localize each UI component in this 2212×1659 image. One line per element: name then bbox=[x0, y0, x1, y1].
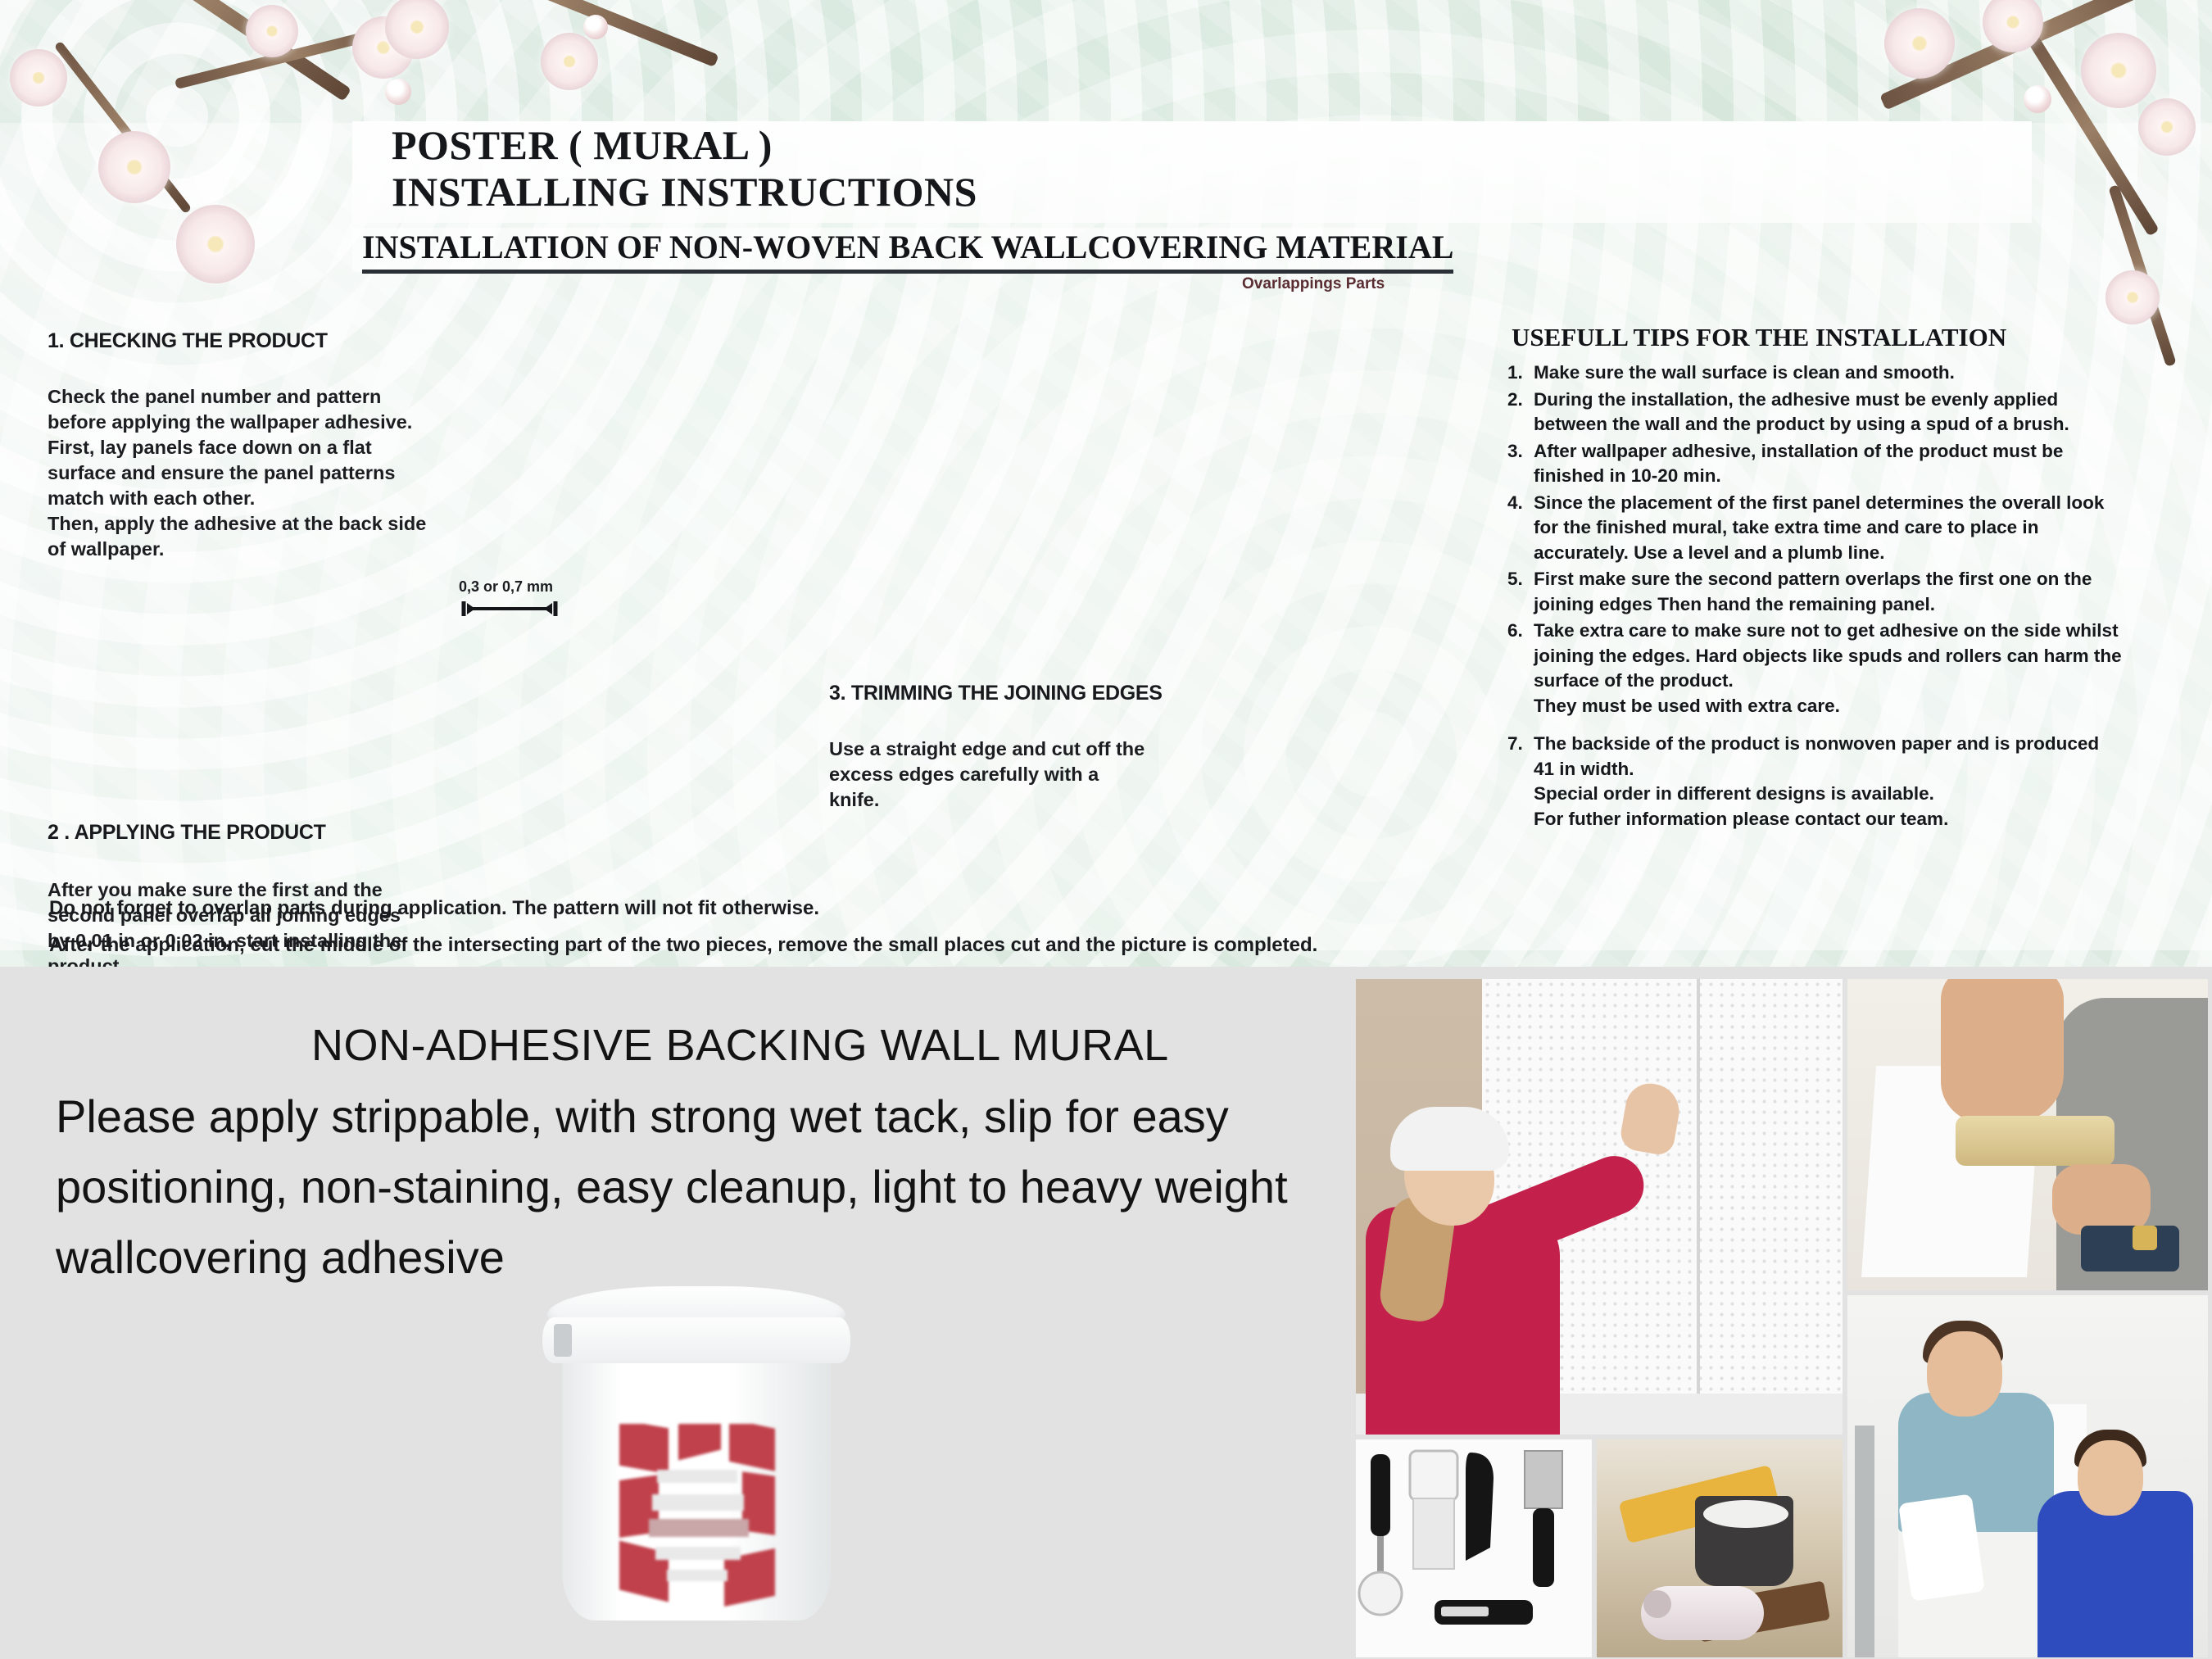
tip-item: 5.First make sure the second pattern ove… bbox=[1507, 567, 2122, 617]
dimension-label: 0,3 or 0,7 mm bbox=[459, 578, 553, 596]
tip-item: 4.Since the placement of the first panel… bbox=[1507, 491, 2122, 566]
bottom-title: NON-ADHESIVE BACKING WALL MURAL bbox=[311, 1020, 1169, 1071]
photo-man-and-child-hanging-wallpaper bbox=[1847, 1295, 2208, 1657]
note-line-2: After the application, cut the middle of… bbox=[49, 934, 1317, 957]
photo-roller-applying-paste bbox=[1847, 979, 2208, 1290]
note-line-1: Do not forget to overlap parts during ap… bbox=[49, 897, 819, 920]
tip-item: 7.The backside of the product is nonwove… bbox=[1507, 732, 2122, 832]
page-subtitle: INSTALLATION OF NON-WOVEN BACK WALLCOVER… bbox=[362, 228, 1453, 274]
overlapping-parts-label: Ovarlappings Parts bbox=[1242, 275, 1385, 293]
tip-item: 3.After wallpaper adhesive, installation… bbox=[1507, 439, 2122, 489]
tips-title: USEFULL TIPS FOR THE INSTALLATION bbox=[1512, 323, 2006, 352]
tool-set-icon bbox=[1356, 1439, 1592, 1657]
instruction-sheet: POSTER ( MURAL ) INSTALLING INSTRUCTIONS… bbox=[0, 0, 2212, 967]
tip-item: 6.Take extra care to make sure not to ge… bbox=[1507, 619, 2122, 718]
adhesive-bucket-image bbox=[541, 1286, 852, 1630]
photo-woman-applying-wallpaper bbox=[1356, 979, 1843, 1435]
bucket-label bbox=[619, 1424, 775, 1612]
dimension-arrow-icon bbox=[459, 600, 573, 618]
tip-item: 2.During the installation, the adhesive … bbox=[1507, 388, 2122, 437]
photo-wallpaper-supplies bbox=[1597, 1439, 1843, 1657]
tips-list: 1.Make sure the wall surface is clean an… bbox=[1507, 360, 2122, 833]
bottom-paragraph: Please apply strippable, with strong wet… bbox=[56, 1081, 1334, 1293]
page-title-line1: POSTER ( MURAL ) bbox=[392, 121, 773, 169]
photo-grid bbox=[1356, 979, 2208, 1657]
photo-wallpaper-tool-set bbox=[1356, 1439, 1592, 1657]
step-1-body: Check the panel number and pattern befor… bbox=[48, 384, 433, 562]
page-title-line2: INSTALLING INSTRUCTIONS bbox=[392, 168, 977, 215]
step-3-body: Use a straight edge and cut off the exce… bbox=[829, 737, 1149, 813]
tip-item: 1.Make sure the wall surface is clean an… bbox=[1507, 360, 2122, 386]
